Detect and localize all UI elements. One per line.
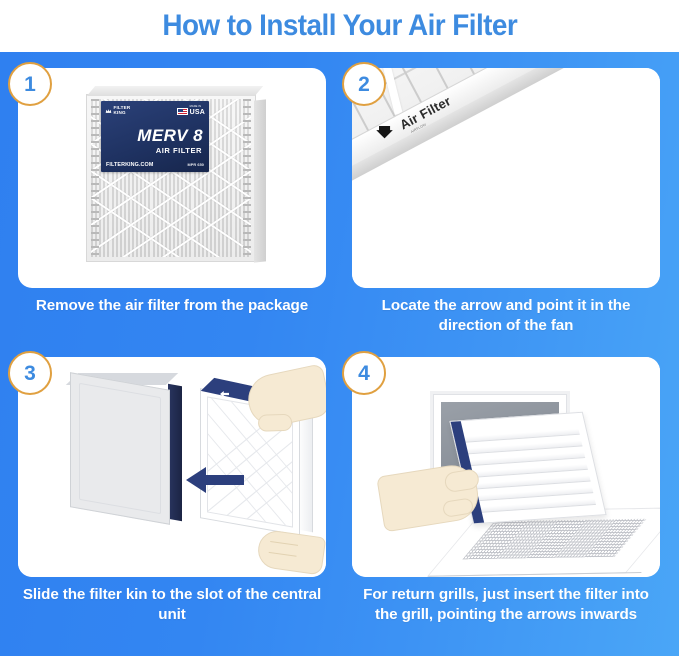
step-number-badge-3: 3 [8,351,52,395]
filter-side-face [254,99,266,262]
website-label: FILTERKING.COM [106,162,153,168]
filter-body: FILTER KING [86,94,256,262]
grill-slat [478,499,597,513]
made-in-usa-text: MADE IN USA [190,106,205,116]
filter-product-label: FILTER KING [101,101,209,172]
step-caption-3: Slide the filter kin to the slot of the … [18,585,326,625]
mpr-label: MPR 650 [187,163,204,167]
finger-lower [442,497,474,517]
step-number-badge-2: 2 [342,62,386,106]
usa-flag-icon [177,108,188,115]
air-filter-product-photo: FILTER KING [78,84,268,274]
step-4-artwork [352,357,660,577]
step-card-2: Air Filter AIRFLOW 2 Locate the arrow an… [352,68,660,351]
filter-right-edge-dots [243,99,251,257]
slot-inner-outline [79,383,161,514]
ceiling-edge-line [428,572,642,577]
grill-slat [472,476,591,490]
made-in-usa-badge: MADE IN USA [177,106,205,116]
steps-grid: FILTER KING [0,52,679,656]
slot-front-face [70,372,170,525]
grill-slat [475,487,594,501]
grill-slat [464,441,583,455]
grill-slat [461,429,580,443]
step-card-4: 4 For return grills, just insert the fil… [352,357,660,640]
step-card-1: FILTER KING [18,68,326,351]
hand-lower [256,529,326,576]
slot-dark-edge [168,384,182,521]
flag-canton [178,109,183,113]
central-unit-slot [70,371,182,519]
label-bottom-row: FILTERKING.COM MPR 650 [106,162,204,168]
step-caption-4: For return grills, just insert the filte… [352,585,660,625]
finger-upper [443,468,480,493]
grill-slat [467,452,586,466]
filter-corner-photo: Air Filter AIRFLOW [352,68,660,288]
filter-top-face [87,86,263,96]
filter-king-logo: FILTER KING [105,106,130,116]
steps-background: FILTER KING [0,52,679,656]
step-3-artwork [18,357,326,577]
step-1-artwork: FILTER KING [18,68,326,288]
ceiling-vent-mesh [462,519,646,560]
slide-direction-arrow-icon [186,465,244,495]
step-card-3: 3 Slide the filter kin to the slot of th… [18,357,326,640]
product-type-label: AIR FILTER [101,146,202,155]
step-4-image-card [352,357,660,577]
hand-holding-filter [376,462,482,533]
page-title: How to Install Your Air Filter [162,9,517,43]
filter-left-edge-dots [91,99,99,257]
finger-lines [269,541,298,557]
step-number-badge-1: 1 [8,62,52,106]
media-pleat [411,68,475,76]
step-caption-1: Remove the air filter from the package [18,296,326,316]
grill-slat [469,464,588,478]
header-bar: How to Install Your Air Filter [0,0,679,52]
crown-icon [105,108,112,115]
step-2-image-card: Air Filter AIRFLOW [352,68,660,288]
step-1-image-card: FILTER KING [18,68,326,288]
merv-rating: MERV 8 [101,126,203,146]
thumb [258,414,293,432]
step-2-artwork: Air Filter AIRFLOW [352,68,660,288]
step-number-badge-4: 4 [342,351,386,395]
step-caption-2: Locate the arrow and point it in the dir… [352,296,660,336]
step-3-image-card [18,357,326,577]
filter-arrow-icon [220,391,229,397]
brand-line-2: KING [114,110,126,115]
brand-text: FILTER KING [114,106,131,116]
label-top-row: FILTER KING [105,104,205,118]
country-label: USA [190,109,205,116]
